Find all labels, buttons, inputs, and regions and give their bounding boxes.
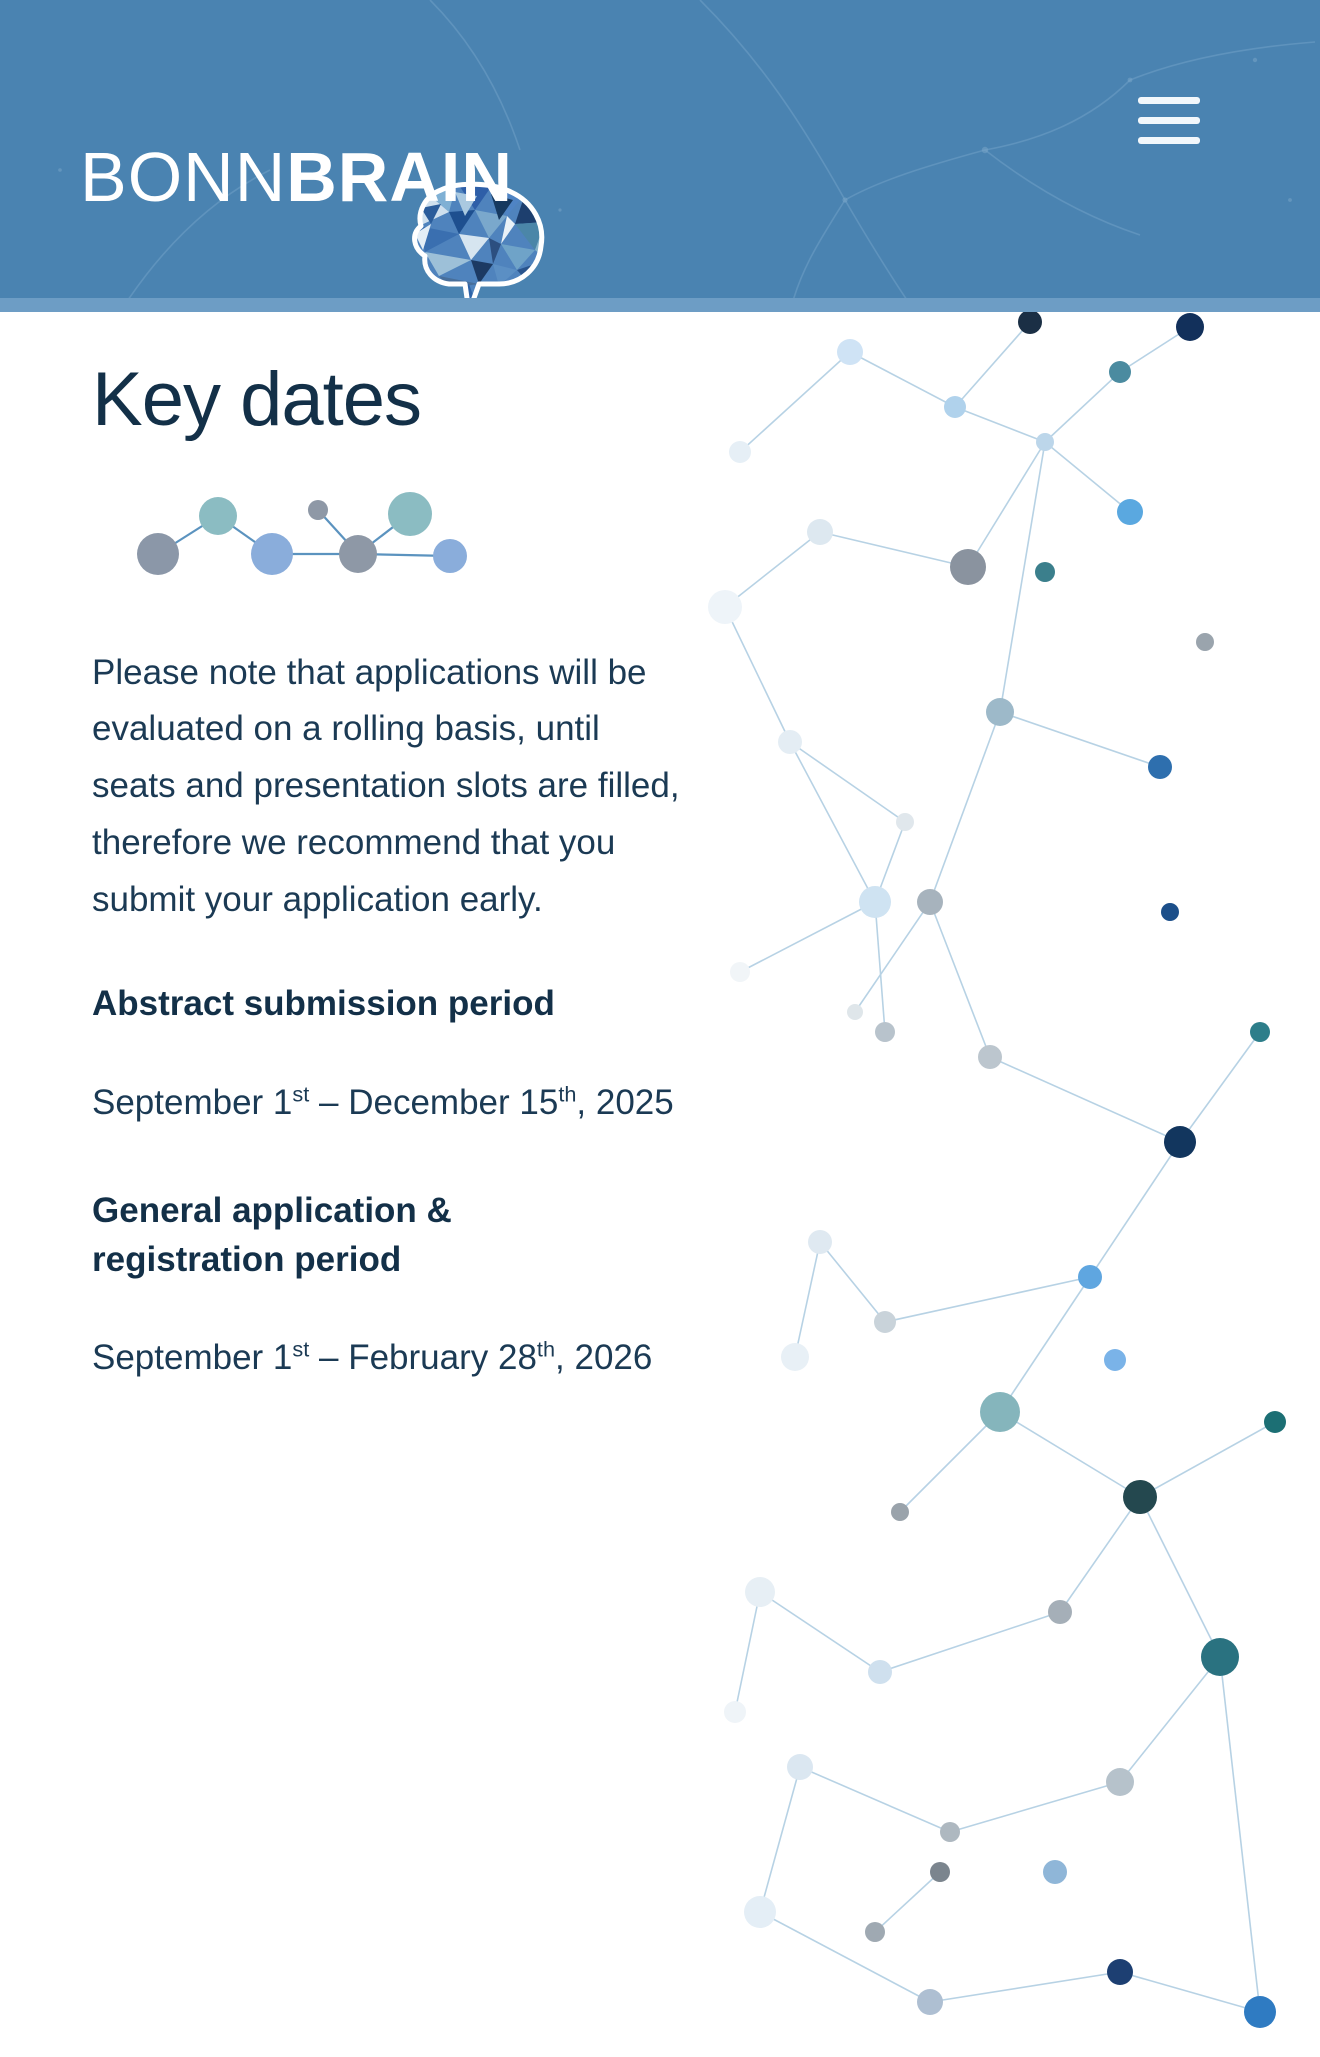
wordmark-bonn: BONN bbox=[80, 138, 286, 216]
abstract-start-date: September 1 bbox=[92, 1083, 292, 1122]
hamburger-menu-icon[interactable] bbox=[1138, 88, 1210, 152]
general-dash: – bbox=[309, 1338, 348, 1377]
general-start-date: September 1 bbox=[92, 1338, 292, 1377]
abstract-year: 2025 bbox=[596, 1083, 674, 1122]
abstract-dash: – bbox=[309, 1083, 348, 1122]
general-end-date: February 28 bbox=[348, 1338, 537, 1377]
node-3 bbox=[251, 533, 293, 575]
brand-lockup[interactable]: BONNBRAIN bbox=[80, 142, 513, 212]
section-heading-general: General application & registration perio… bbox=[92, 1187, 652, 1284]
date-abstract-period: September 1st – December 15th, 2025 bbox=[92, 1075, 700, 1132]
hamburger-line-1 bbox=[1138, 97, 1200, 104]
hamburger-line-3 bbox=[1138, 137, 1200, 144]
wordmark: BONNBRAIN bbox=[80, 142, 513, 212]
wordmark-brain: BRAIN bbox=[286, 138, 513, 216]
general-year: 2026 bbox=[574, 1338, 652, 1377]
section-heading-abstract: Abstract submission period bbox=[92, 980, 652, 1028]
main-content: Key dates Please note that appl bbox=[0, 312, 1320, 2057]
general-comma: , bbox=[555, 1338, 565, 1377]
abstract-start-ordinal: st bbox=[292, 1081, 309, 1106]
date-general-period: September 1st – February 28th, 2026 bbox=[92, 1330, 700, 1387]
node-cluster-graphic bbox=[120, 482, 480, 582]
page-root: BONNBRAIN bbox=[0, 0, 1320, 2057]
abstract-comma: , bbox=[576, 1083, 586, 1122]
intro-paragraph: Please note that applications will be ev… bbox=[92, 645, 692, 928]
node-2 bbox=[199, 497, 237, 535]
general-start-ordinal: st bbox=[292, 1336, 309, 1361]
abstract-end-date: December 15 bbox=[348, 1083, 558, 1122]
network-constellation-graphic bbox=[700, 312, 1320, 2057]
node-7 bbox=[433, 539, 467, 573]
hamburger-line-2 bbox=[1138, 117, 1200, 124]
site-header: BONNBRAIN bbox=[0, 0, 1320, 312]
page-title: Key dates bbox=[92, 360, 700, 440]
general-end-ordinal: th bbox=[537, 1336, 555, 1361]
node-1 bbox=[137, 533, 179, 575]
node-5 bbox=[339, 535, 377, 573]
abstract-end-ordinal: th bbox=[558, 1081, 576, 1106]
node-4 bbox=[308, 500, 328, 520]
node-6 bbox=[388, 492, 432, 536]
content-column: Key dates Please note that appl bbox=[0, 312, 700, 1387]
